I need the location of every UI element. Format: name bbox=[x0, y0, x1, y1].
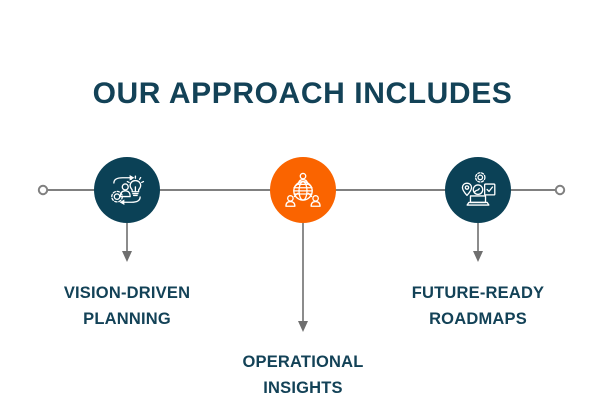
connector-arrow-1 bbox=[122, 223, 132, 262]
global-network-people-icon bbox=[282, 169, 324, 211]
step-caption-1-line1: VISION-DRIVEN bbox=[17, 280, 237, 306]
strategy-lightbulb-gear-icon bbox=[106, 169, 148, 211]
milestone-node-1[interactable] bbox=[94, 157, 160, 223]
connector-arrow-2 bbox=[298, 223, 308, 332]
step-caption-2-line2: INSIGHTS bbox=[193, 375, 413, 401]
laptop-gear-checklist-icon bbox=[457, 169, 499, 211]
step-caption-3: FUTURE-READY ROADMAPS bbox=[368, 280, 588, 332]
connector-arrow-3 bbox=[473, 223, 483, 262]
timeline-end-endpoint-icon bbox=[556, 186, 564, 194]
step-caption-3-line1: FUTURE-READY bbox=[368, 280, 588, 306]
step-caption-2-line1: OPERATIONAL bbox=[193, 349, 413, 375]
infographic-canvas: OUR APPROACH INCLUDES bbox=[0, 0, 605, 416]
step-caption-1-line2: PLANNING bbox=[17, 306, 237, 332]
step-caption-3-line2: ROADMAPS bbox=[368, 306, 588, 332]
timeline-start-endpoint-icon bbox=[39, 186, 47, 194]
step-caption-1: VISION-DRIVEN PLANNING bbox=[17, 280, 237, 332]
step-caption-2: OPERATIONAL INSIGHTS bbox=[193, 349, 413, 401]
milestone-node-2[interactable] bbox=[270, 157, 336, 223]
milestone-node-3[interactable] bbox=[445, 157, 511, 223]
